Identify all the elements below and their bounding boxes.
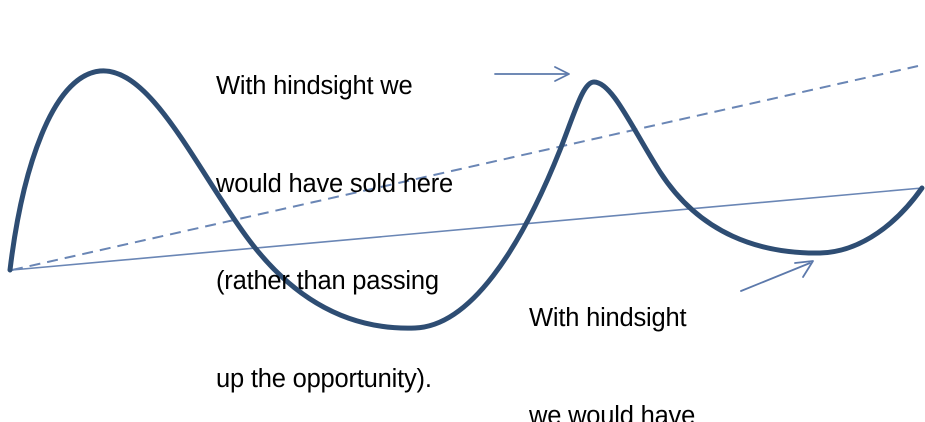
actual-trend-solid-line (12, 188, 922, 270)
buy-arrow-icon (741, 261, 813, 291)
annotation-sell-line-1: With hindsight we (216, 70, 453, 103)
annotation-buy-text: With hindsight we would have bought here… (529, 237, 695, 422)
annotation-sell-text: With hindsight we would have sold here (… (216, 5, 453, 422)
sell-arrow-icon (495, 67, 569, 81)
price-wave-curve (10, 71, 922, 328)
annotation-buy-line-1: With hindsight (529, 302, 695, 335)
diagram-canvas: With hindsight we would have sold here (… (0, 0, 925, 422)
price-wave-diagram (0, 0, 925, 422)
annotation-sell-line-2: would have sold here (216, 168, 453, 201)
annotation-buy-line-2: we would have (529, 400, 695, 422)
annotation-sell-line-4: up the opportunity). (216, 363, 453, 396)
annotation-sell-line-3: (rather than passing (216, 265, 453, 298)
